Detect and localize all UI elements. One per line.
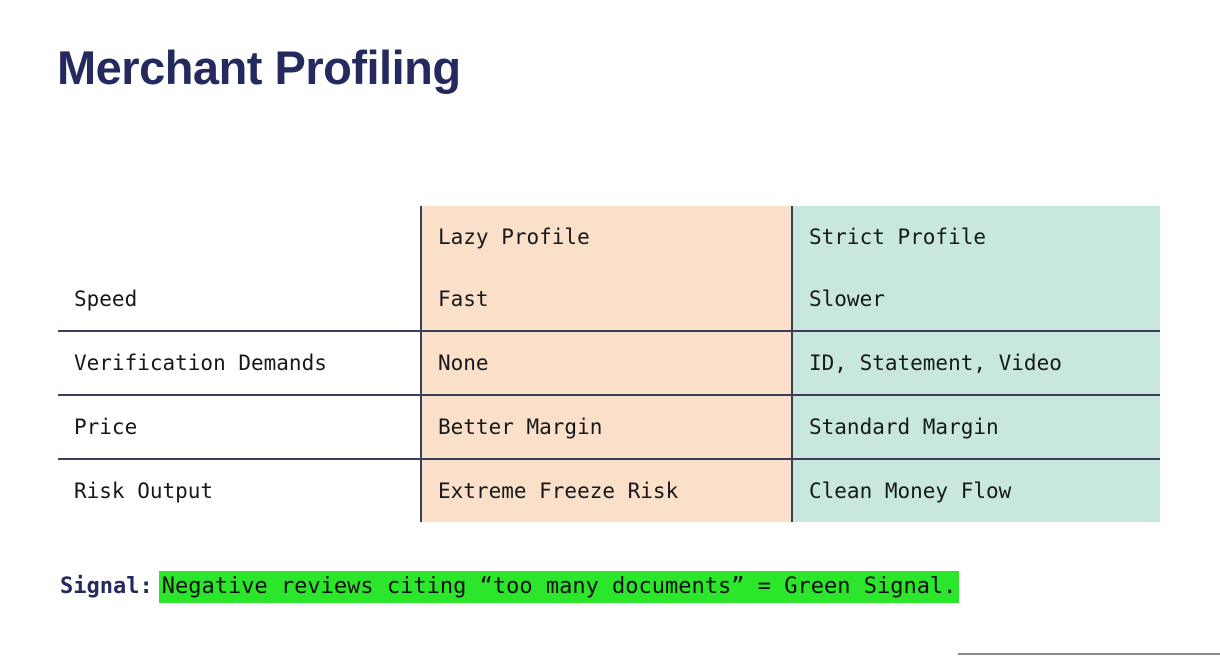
column-header-strict-profile: Strict Profile	[792, 206, 1160, 268]
slide-canvas: Merchant Profiling Lazy Profile Strict P…	[0, 0, 1220, 657]
table-corner-cell	[58, 206, 421, 268]
table-row: Price Better Margin Standard Margin	[58, 395, 1160, 459]
cell-speed-lazy: Fast	[421, 268, 792, 331]
row-label-speed: Speed	[58, 268, 421, 331]
row-label-verification-demands: Verification Demands	[58, 331, 421, 395]
cell-speed-strict: Slower	[792, 268, 1160, 331]
cell-verification-demands-strict: ID, Statement, Video	[792, 331, 1160, 395]
signal-callout: Signal:Negative reviews citing “too many…	[60, 570, 959, 604]
merchant-profile-comparison-table: Lazy Profile Strict Profile Speed Fast S…	[58, 206, 1160, 522]
row-label-price: Price	[58, 395, 421, 459]
table-row: Speed Fast Slower	[58, 268, 1160, 331]
table-row: Risk Output Extreme Freeze Risk Clean Mo…	[58, 459, 1160, 522]
page-title: Merchant Profiling	[57, 42, 461, 94]
cell-risk-output-strict: Clean Money Flow	[792, 459, 1160, 522]
signal-label: Signal:	[60, 574, 153, 599]
table-row: Verification Demands None ID, Statement,…	[58, 331, 1160, 395]
cell-verification-demands-lazy: None	[421, 331, 792, 395]
signal-highlighted-text: Negative reviews citing “too many docume…	[159, 571, 960, 603]
row-label-risk-output: Risk Output	[58, 459, 421, 522]
cell-price-strict: Standard Margin	[792, 395, 1160, 459]
column-header-lazy-profile: Lazy Profile	[421, 206, 792, 268]
cell-price-lazy: Better Margin	[421, 395, 792, 459]
bottom-divider	[958, 653, 1220, 655]
cell-risk-output-lazy: Extreme Freeze Risk	[421, 459, 792, 522]
table-header-row: Lazy Profile Strict Profile	[58, 206, 1160, 268]
